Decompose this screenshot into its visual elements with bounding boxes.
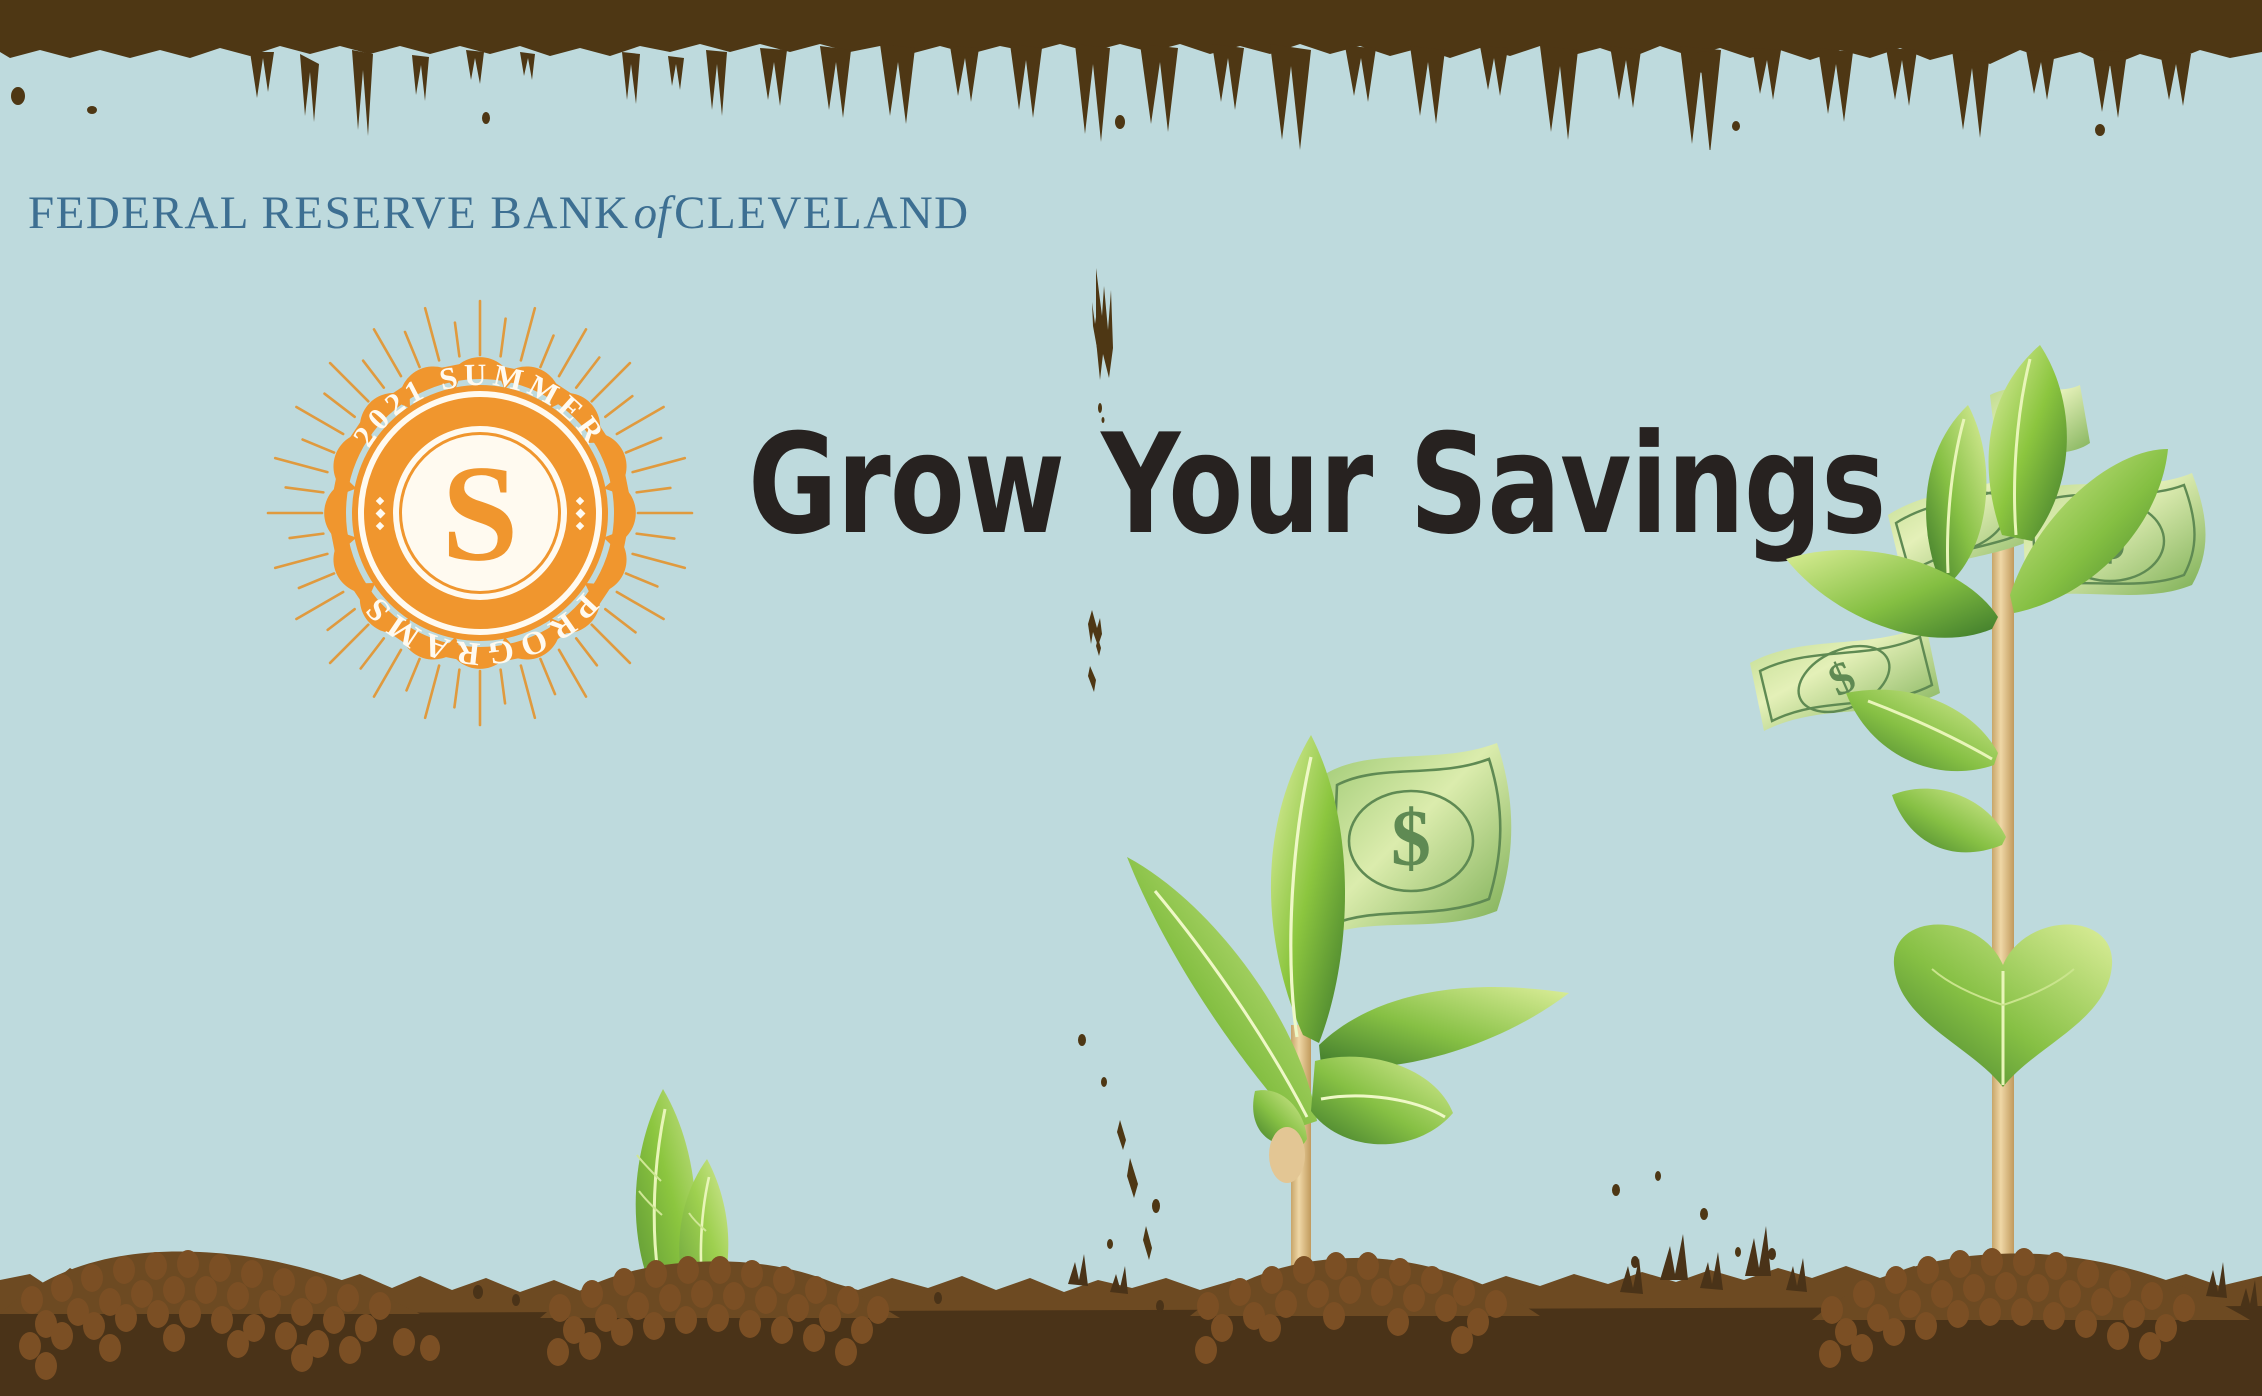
soil-ground [0,1196,2262,1396]
summer-programs-badge: 2021 SUMMER PROGRAMS S [265,298,695,728]
page-title: Grow Your Savings [748,416,1885,554]
poster-canvas: FEDERAL RESERVE BANKofCLEVELAND [0,0,2262,1396]
wordmark-part-one: FEDERAL RESERVE BANK [28,187,630,239]
federal-reserve-wordmark: FEDERAL RESERVE BANKofCLEVELAND [28,186,970,240]
wordmark-italic-of: of [630,187,675,239]
badge-monogram-s: S [442,437,519,590]
wordmark-part-two: CLEVELAND [674,187,969,239]
